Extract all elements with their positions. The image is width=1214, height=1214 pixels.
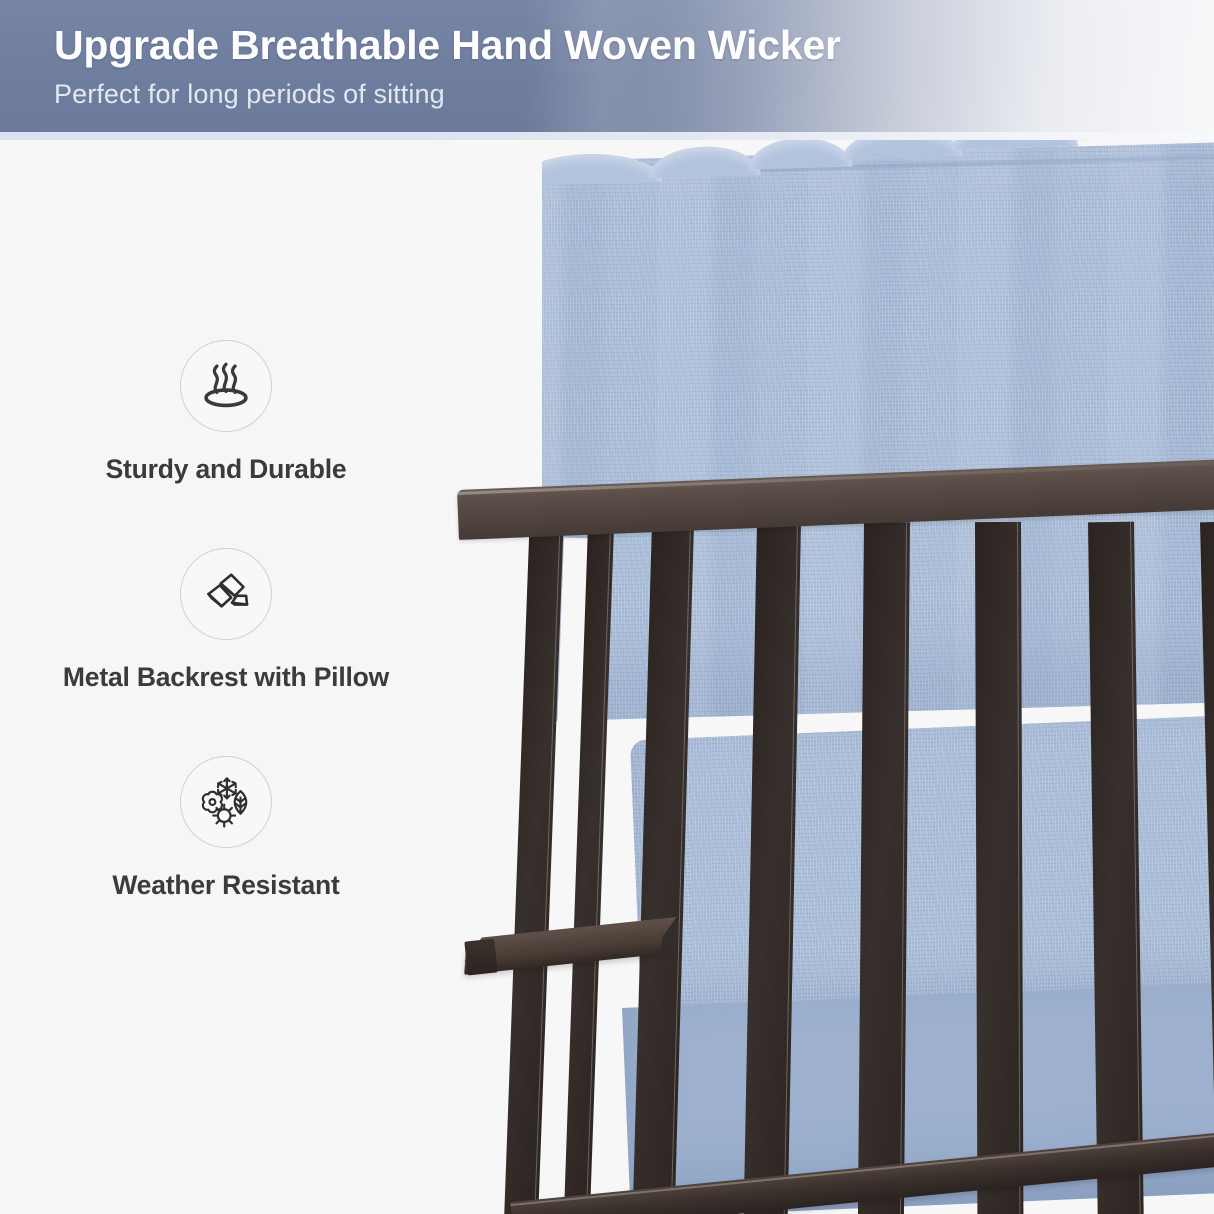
feature-item-weather-resistant: Weather Resistant: [0, 756, 452, 902]
post-highlight: [585, 526, 611, 1214]
pillow-scallop: [842, 140, 963, 160]
product-feature-page: Upgrade Breathable Hand Woven Wicker Per…: [0, 0, 1214, 1214]
banner-text-block: Upgrade Breathable Hand Woven Wicker Per…: [54, 22, 1054, 111]
feature-label: Metal Backrest with Pillow: [0, 662, 452, 694]
hot-spring-steam-icon: [197, 357, 255, 415]
feature-label: Weather Resistant: [0, 870, 452, 902]
feature-list: Sturdy and Durable: [0, 340, 452, 901]
backrest-slat: [857, 522, 910, 1214]
feature-icon-circle: [180, 340, 272, 432]
four-seasons-weather-icon: [197, 773, 255, 831]
feature-item-sturdy-and-durable: Sturdy and Durable: [0, 340, 452, 486]
slat-highlight: [1016, 522, 1020, 1214]
armrest-end-cap: [464, 939, 497, 976]
header-banner: Upgrade Breathable Hand Woven Wicker Per…: [0, 0, 1214, 140]
banner-subtitle: Perfect for long periods of sitting: [54, 78, 1054, 110]
backrest-slat: [975, 522, 1024, 1214]
feature-label: Sturdy and Durable: [0, 454, 452, 486]
banner-bottom-edge: [0, 132, 1214, 140]
metal-ingot-bars-icon: [198, 566, 254, 622]
pillow-scallop: [648, 145, 761, 178]
banner-title: Upgrade Breathable Hand Woven Wicker: [54, 22, 1054, 69]
product-photo: [452, 140, 1214, 1214]
pillow-scallop: [748, 140, 853, 170]
feature-icon-circle: [180, 756, 272, 848]
pillow-scallop: [1067, 140, 1178, 141]
feature-icon-circle: [180, 548, 272, 640]
feature-item-metal-backrest-with-pillow: Metal Backrest with Pillow: [0, 548, 452, 694]
